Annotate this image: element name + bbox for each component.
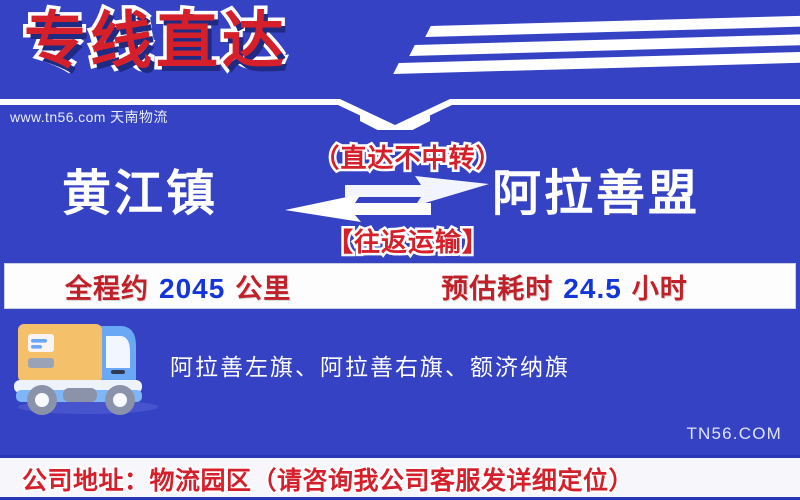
coverage-areas-label: 阿拉善左旗、阿拉善右旗、额济纳旗 [170,348,570,382]
direct-route-badge-label: （直达不中转） [313,138,502,175]
duration-group: 预估耗时 24.5 小时 [441,267,688,306]
destination-city: 阿拉善盟 [492,168,700,222]
round-trip-badge: 【往返运输】 [0,222,800,259]
distance-value: 2045 [159,273,225,305]
round-trip-badge-label: 【往返运输】 [327,222,489,259]
duration-value: 24.5 [563,273,622,305]
direct-route-badge: （直达不中转） [0,138,800,175]
watermark-label: TN56.COM [686,424,782,444]
footer-bar: 公司地址：物流园区（请咨询我公司客服发详细定位） [0,458,800,500]
bidirectional-arrow-icon [285,176,489,222]
distance-group: 全程约 2045 公里 [65,267,291,306]
company-address-label: 公司地址：物流园区（请咨询我公司客服发详细定位） [22,461,634,497]
page-title: 专线直达 [24,4,288,80]
site-url-label: www.tn56.com 天南物流 [10,107,168,127]
decorative-stripe-1 [425,15,800,37]
route-info-bar: 全程约 2045 公里 预估耗时 24.5 小时 [5,264,795,308]
delivery-truck-icon [8,312,168,417]
distance-unit-label: 公里 [235,267,291,306]
logistics-poster: 专线直达 www.tn56.com 天南物流 黄江镇 阿拉善盟 （直达不中转） … [0,0,800,500]
duration-unit-label: 小时 [632,267,688,306]
origin-city: 黄江镇 [62,168,218,222]
distance-prefix-label: 全程约 [65,267,149,306]
duration-prefix-label: 预估耗时 [441,267,553,306]
